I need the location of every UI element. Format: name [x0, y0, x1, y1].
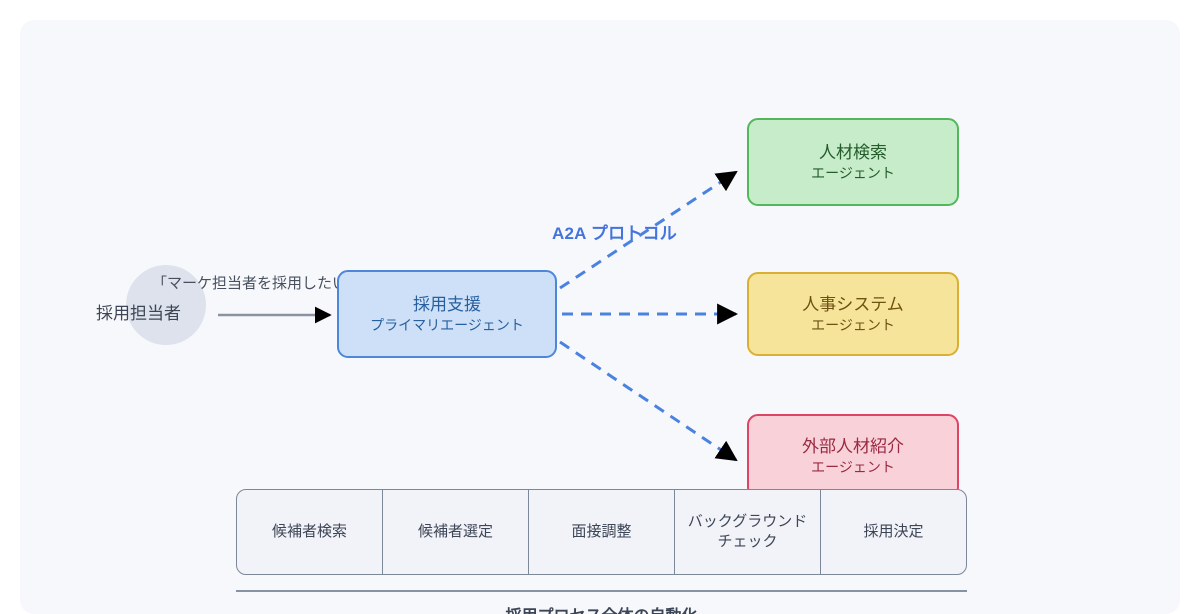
actor-request-quote: 「マーケ担当者を採用したい」 [152, 272, 362, 293]
a2a-protocol-label: A2A プロトコル [552, 219, 677, 244]
node-primary-title: 採用支援 [413, 294, 481, 316]
recruiting-process-bar: 候補者検索候補者選定面接調整バックグラウンドチェック採用決定 [236, 489, 967, 575]
node-search-subtitle: エージェント [811, 164, 895, 182]
node-hr-system-agent[interactable]: 人事システム エージェント [747, 272, 959, 356]
node-hr-title: 人事システム [802, 294, 904, 316]
process-step[interactable]: バックグラウンドチェック [675, 490, 821, 574]
actor-label: 採用担当者 [96, 299, 216, 324]
process-step[interactable]: 採用決定 [821, 490, 966, 574]
node-external-agency-agent[interactable]: 外部人材紹介 エージェント [747, 414, 959, 498]
node-search-title: 人材検索 [819, 142, 887, 164]
diagram-stage: 採用担当者 「マーケ担当者を採用したい」 A2A プロトコル 採用支援 プライマ… [0, 0, 1200, 614]
node-hr-subtitle: エージェント [811, 316, 895, 334]
footer-divider [236, 590, 967, 592]
process-step[interactable]: 候補者選定 [383, 490, 529, 574]
node-primary-subtitle: プライマリエージェント [370, 316, 524, 334]
node-talent-search-agent[interactable]: 人材検索 エージェント [747, 118, 959, 206]
node-external-title: 外部人材紹介 [802, 436, 904, 458]
process-step[interactable]: 候補者検索 [237, 490, 383, 574]
node-external-subtitle: エージェント [811, 458, 895, 476]
node-primary-agent[interactable]: 採用支援 プライマリエージェント [337, 270, 557, 358]
footer-caption: 採用プロセス全体の自動化 [236, 602, 967, 614]
process-step[interactable]: 面接調整 [529, 490, 675, 574]
